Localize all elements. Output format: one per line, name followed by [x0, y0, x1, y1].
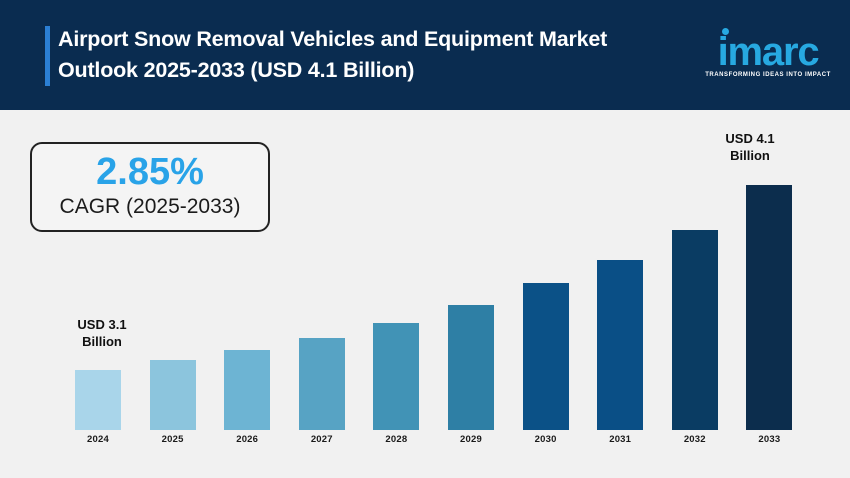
x-axis-label-2028: 2028 [361, 434, 431, 445]
bar-2024 [75, 370, 121, 430]
bar-2027 [299, 338, 345, 430]
bar-2030 [523, 283, 569, 430]
bar-2033 [746, 185, 792, 430]
bar-2025 [150, 360, 196, 430]
bar-2032 [672, 230, 718, 430]
infographic-root: Airport Snow Removal Vehicles and Equipm… [0, 0, 850, 478]
x-axis-label-2025: 2025 [138, 434, 208, 445]
bar-2031 [597, 260, 643, 430]
x-axis-label-2026: 2026 [212, 434, 282, 445]
x-axis-label-2030: 2030 [511, 434, 581, 445]
bar-2028 [373, 323, 419, 430]
x-axis-label-2032: 2032 [660, 434, 730, 445]
x-axis-label-2029: 2029 [436, 434, 506, 445]
bar-chart: 2024202520262027202820292030203120322033 [0, 0, 850, 478]
bar-2026 [224, 350, 270, 430]
x-axis-label-2027: 2027 [287, 434, 357, 445]
x-axis-label-2033: 2033 [734, 434, 804, 445]
bar-2029 [448, 305, 494, 430]
x-axis-label-2031: 2031 [585, 434, 655, 445]
x-axis-label-2024: 2024 [63, 434, 133, 445]
